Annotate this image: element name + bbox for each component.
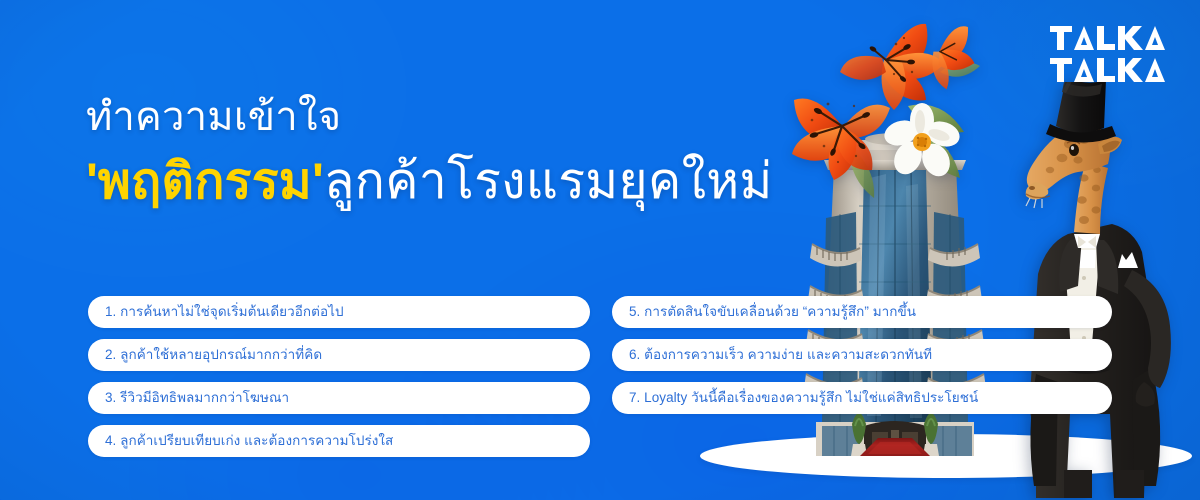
list-item[interactable]: 1. การค้นหาไม่ใช่จุดเริ่มต้นเดียวอีกต่อไ…	[88, 296, 590, 328]
quote-open: '	[86, 153, 98, 209]
list-item-label: 3. รีวิวมีอิทธิพลมากกว่าโฆษณา	[105, 391, 289, 405]
list-item[interactable]: 6. ต้องการความเร็ว ความง่าย และความสะดวก…	[612, 339, 1112, 371]
quote-close: '	[312, 153, 324, 209]
list-item-label: 4. ลูกค้าเปรียบเทียบเก่ง และต้องการความโ…	[105, 434, 393, 448]
headline-line-2: 'พฤติกรรม'ลูกค้าโรงแรมยุคใหม่	[86, 155, 773, 208]
list-item-label: 6. ต้องการความเร็ว ความง่าย และความสะดวก…	[629, 348, 932, 362]
headline-line-1: ทำความเข้าใจ	[86, 96, 773, 139]
banner-canvas: TALKA TALKA ทำความเข้าใจ 'พฤติกรรม'ลูกค้…	[0, 0, 1200, 500]
talka-talka-logo[interactable]: TALKA TALKA	[1050, 26, 1172, 84]
list-item[interactable]: 7. Loyalty วันนี้คือเรื่องของความรู้สึก …	[612, 382, 1112, 414]
giraffe-in-top-hat-and-tuxedo	[1012, 82, 1197, 500]
list-item[interactable]: 4. ลูกค้าเปรียบเทียบเก่ง และต้องการความโ…	[88, 425, 590, 457]
list-item-label: 2. ลูกค้าใช้หลายอุปกรณ์มากกว่าที่คิด	[105, 348, 322, 362]
list-item[interactable]: 5. การตัดสินใจขับเคลื่อนด้วย “ความรู้สึก…	[612, 296, 1112, 328]
list-item-label: 7. Loyalty วันนี้คือเรื่องของความรู้สึก …	[629, 391, 978, 405]
list-item-label: 1. การค้นหาไม่ใช่จุดเริ่มต้นเดียวอีกต่อไ…	[105, 305, 344, 319]
headline-line-2-rest: ลูกค้าโรงแรมยุคใหม่	[324, 153, 773, 209]
list-item[interactable]: 2. ลูกค้าใช้หลายอุปกรณ์มากกว่าที่คิด	[88, 339, 590, 371]
orange-lily-flowers	[790, 14, 1030, 204]
list-item-label: 5. การตัดสินใจขับเคลื่อนด้วย “ความรู้สึก…	[629, 305, 916, 319]
headline-emphasis: พฤติกรรม	[98, 153, 312, 209]
list-item[interactable]: 3. รีวิวมีอิทธิพลมากกว่าโฆษณา	[88, 382, 590, 414]
headline-block: ทำความเข้าใจ 'พฤติกรรม'ลูกค้าโรงแรมยุคให…	[86, 96, 773, 208]
